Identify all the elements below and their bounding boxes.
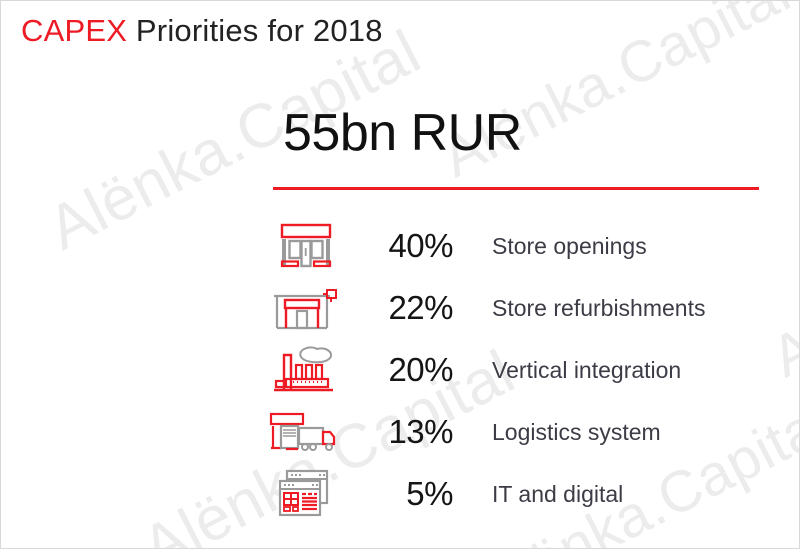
factory-icon — [263, 345, 349, 395]
percent-value: 13% — [349, 413, 457, 451]
accent-divider — [273, 187, 759, 190]
percent-value: 40% — [349, 227, 457, 265]
percent-value: 22% — [349, 289, 457, 327]
list-item[interactable]: 13% Logistics system — [263, 401, 783, 463]
priority-label: Store openings — [457, 233, 783, 260]
list-item[interactable]: 22% Store refurbishments — [263, 277, 783, 339]
percent-value: 5% — [349, 475, 457, 513]
storefront-icon — [263, 222, 349, 270]
browser-windows-icon — [263, 468, 349, 520]
headline-total: 55bn RUR — [283, 103, 522, 163]
priority-list: 40% Store openings 22% Store refurbishme… — [263, 215, 783, 525]
priority-label: Store refurbishments — [457, 295, 783, 322]
title-rest: Priorities for 2018 — [127, 13, 383, 48]
list-item[interactable]: 5% IT and digital — [263, 463, 783, 525]
page-title: CAPEX Priorities for 2018 — [21, 13, 383, 49]
percent-value: 20% — [349, 351, 457, 389]
warehouse-truck-icon — [263, 408, 349, 456]
store-refurbishment-icon — [263, 284, 349, 332]
priority-label: Logistics system — [457, 419, 783, 446]
priority-label: IT and digital — [457, 481, 783, 508]
list-item[interactable]: 40% Store openings — [263, 215, 783, 277]
slide-canvas: Alënka.Capital Alënka.Capital Alënka.Cap… — [0, 0, 800, 549]
list-item[interactable]: 20% Vertical integration — [263, 339, 783, 401]
title-accent: CAPEX — [21, 13, 127, 48]
priority-label: Vertical integration — [457, 357, 783, 384]
